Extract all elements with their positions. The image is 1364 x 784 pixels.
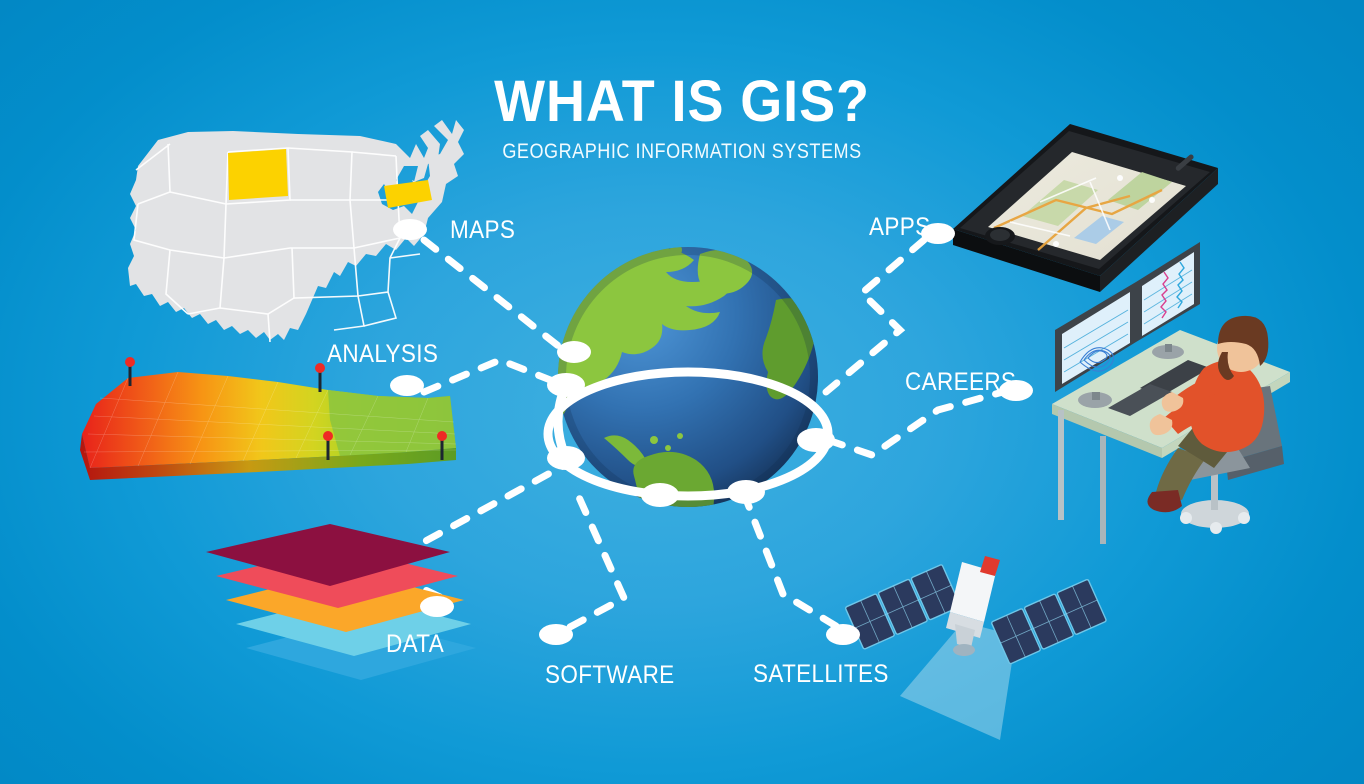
node-label-maps[interactable]: MAPS bbox=[450, 216, 515, 245]
satellite-panel-right bbox=[991, 579, 1107, 664]
node-label-data[interactable]: DATA bbox=[386, 630, 444, 659]
node-dot-maps[interactable] bbox=[393, 219, 427, 240]
satellite-lens bbox=[953, 644, 975, 656]
node-label-analysis[interactable]: ANALYSIS bbox=[327, 340, 438, 369]
infographic-canvas: WHAT IS GIS? GEOGRAPHIC INFORMATION SYST… bbox=[0, 0, 1364, 784]
node-label-software[interactable]: SOFTWARE bbox=[545, 661, 675, 690]
node-label-apps[interactable]: APPS bbox=[869, 213, 930, 242]
page-subtitle: GEOGRAPHIC INFORMATION SYSTEMS bbox=[95, 140, 1268, 164]
page-title: WHAT IS GIS? bbox=[48, 72, 1317, 132]
node-dot-data[interactable] bbox=[420, 596, 454, 617]
node-dot-satellites[interactable] bbox=[826, 624, 860, 645]
node-dot-software[interactable] bbox=[539, 624, 573, 645]
node-label-careers[interactable]: CAREERS bbox=[905, 368, 1016, 397]
title-block: WHAT IS GIS? GEOGRAPHIC INFORMATION SYST… bbox=[0, 72, 1364, 164]
node-dot-analysis[interactable] bbox=[390, 375, 424, 396]
satellite-panel-left bbox=[845, 564, 961, 649]
node-label-satellites[interactable]: SATELLITES bbox=[753, 660, 889, 689]
